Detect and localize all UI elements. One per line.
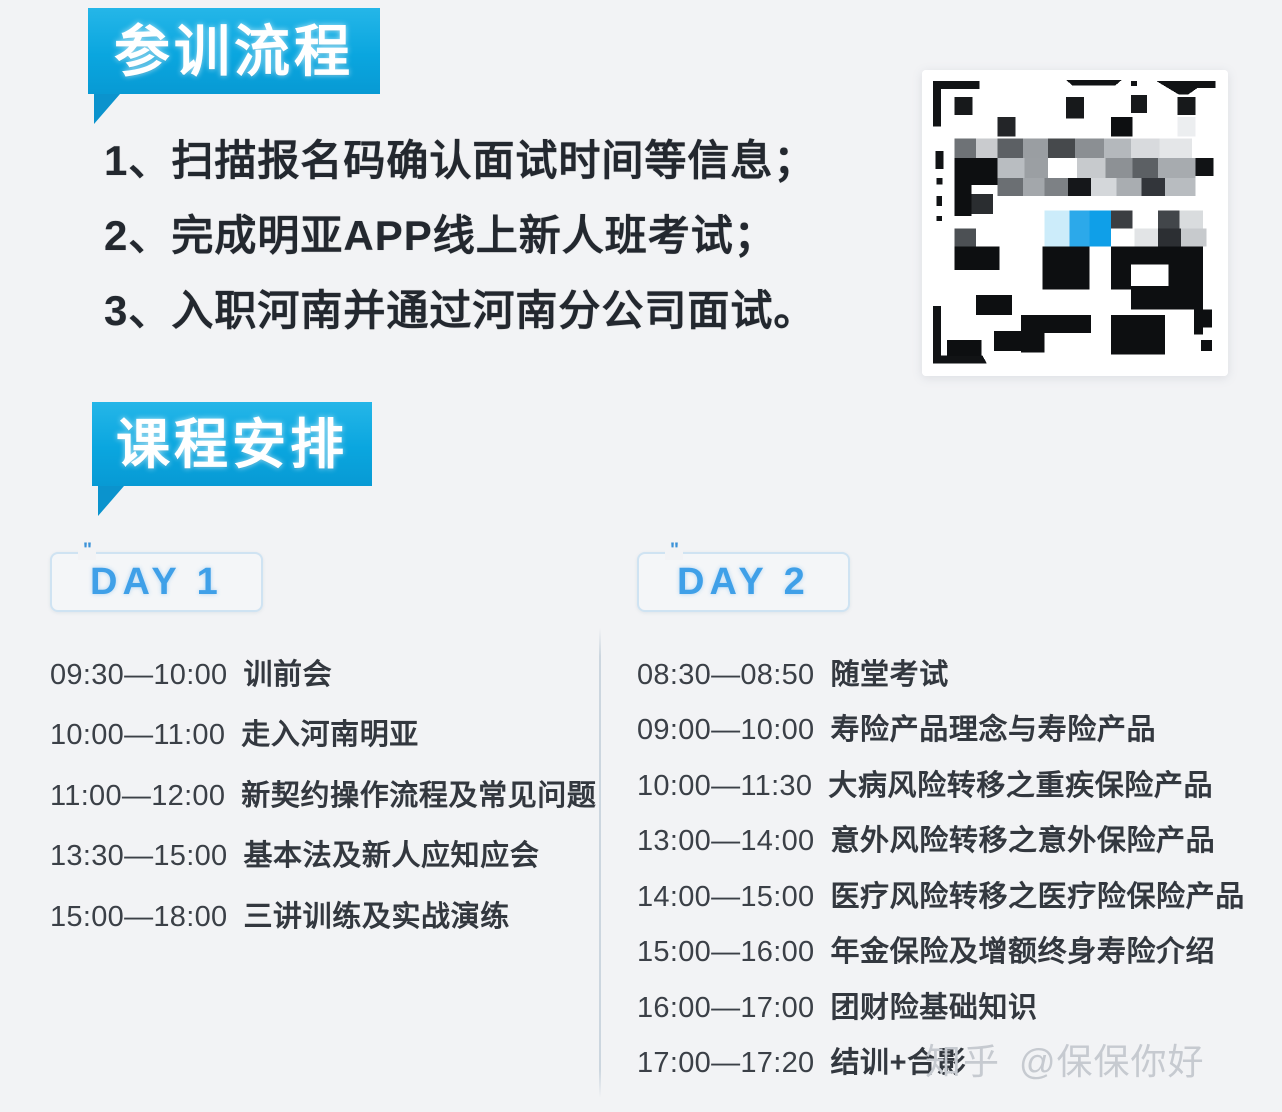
process-step-text: 完成明亚APP线上新人班考试； (171, 215, 776, 257)
quote-mark-icon: " (78, 541, 96, 560)
section-banner-schedule-label: 课程安排 (92, 402, 372, 486)
schedule-time: 08:30—08:50 (637, 660, 814, 690)
schedule-title: 医疗风险转移之医疗险保险产品 (830, 882, 1244, 912)
poster-canvas: 参训流程 1、扫描报名码确认面试时间等信息； 2、完成明亚APP线上新人班考试；… (0, 0, 1282, 1112)
schedule-row: 13:30—15:00 基本法及新人应知应会 (50, 841, 595, 871)
process-step-number: 2、 (104, 215, 171, 257)
schedule-title: 团财险基础知识 (830, 993, 1037, 1023)
process-step-text: 入职河南并通过河南分公司面试。 (171, 290, 816, 332)
schedule-title: 新契约操作流程及常见问题 (241, 781, 596, 811)
schedule-time: 16:00—17:00 (637, 993, 814, 1023)
schedule-title: 走入河南明亚 (241, 720, 419, 750)
schedule-row: 14:00—15:00 医疗风险转移之医疗险保险产品 (637, 882, 1267, 912)
schedule-time: 15:00—18:00 (50, 902, 227, 932)
schedule-row: 09:00—10:00 寿险产品理念与寿险产品 (637, 715, 1267, 745)
registration-qr-code[interactable] (922, 70, 1228, 376)
section-banner-schedule: 课程安排 (92, 402, 372, 516)
list-item: 3、入职河南并通过河南分公司面试。 (104, 290, 914, 332)
day-1-column: " DAY 1 09:30—10:00 训前会 10:00—11:00 走入河南… (50, 552, 595, 962)
process-step-text: 扫描报名码确认面试时间等信息； (171, 140, 816, 182)
schedule-title: 大病风险转移之重疾保险产品 (828, 771, 1213, 801)
schedule-row: 10:00—11:30 大病风险转移之重疾保险产品 (637, 771, 1267, 801)
schedule-title: 三讲训练及实战演练 (243, 902, 509, 932)
schedule-time: 13:00—14:00 (637, 826, 814, 856)
section-banner-process: 参训流程 (88, 8, 380, 124)
day-1-badge: " DAY 1 (50, 552, 263, 612)
schedule-time: 10:00—11:00 (50, 720, 225, 750)
schedule-row: 15:00—16:00 年金保险及增额终身寿险介绍 (637, 937, 1267, 967)
schedule-row: 09:30—10:00 训前会 (50, 660, 595, 690)
qr-code-icon (922, 70, 1228, 376)
process-step-number: 1、 (104, 140, 171, 182)
process-step-number: 3、 (104, 290, 171, 332)
section-banner-process-label: 参训流程 (88, 8, 380, 94)
schedule-time: 13:30—15:00 (50, 841, 227, 871)
schedule-title: 随堂考试 (830, 660, 948, 690)
schedule-row: 10:00—11:00 走入河南明亚 (50, 720, 595, 750)
watermark-handle: @保保你好 (1019, 1033, 1205, 1085)
list-item: 1、扫描报名码确认面试时间等信息； (104, 140, 914, 182)
banner-tail-icon (98, 486, 124, 516)
schedule-title: 意外风险转移之意外保险产品 (830, 826, 1215, 856)
schedule-row: 13:00—14:00 意外风险转移之意外保险产品 (637, 826, 1267, 856)
schedule-title: 寿险产品理念与寿险产品 (830, 715, 1156, 745)
schedule-row: 16:00—17:00 团财险基础知识 (637, 993, 1267, 1023)
schedule-time: 10:00—11:30 (637, 771, 812, 801)
banner-tail-icon (94, 94, 120, 124)
day-1-label: DAY 1 (90, 561, 223, 603)
schedule-time: 11:00—12:00 (50, 781, 225, 811)
list-item: 2、完成明亚APP线上新人班考试； (104, 215, 914, 257)
schedule-title: 训前会 (243, 660, 332, 690)
zhihu-watermark: 知乎 @保保你好 (925, 1033, 1205, 1085)
quote-mark-icon: " (665, 541, 683, 560)
schedule-time: 09:00—10:00 (637, 715, 814, 745)
watermark-platform: 知乎 (925, 1033, 1001, 1085)
schedule-title: 年金保险及增额终身寿险介绍 (830, 937, 1215, 967)
day-2-schedule-list: 08:30—08:50 随堂考试 09:00—10:00 寿险产品理念与寿险产品… (637, 660, 1267, 1079)
schedule-row: 11:00—12:00 新契约操作流程及常见问题 (50, 781, 595, 811)
schedule-row: 15:00—18:00 三讲训练及实战演练 (50, 902, 595, 932)
day-2-label: DAY 2 (677, 561, 810, 603)
day-2-badge: " DAY 2 (637, 552, 850, 612)
schedule-time: 17:00—17:20 (637, 1048, 814, 1078)
schedule-time: 15:00—16:00 (637, 937, 814, 967)
day-2-column: " DAY 2 08:30—08:50 随堂考试 09:00—10:00 寿险产… (637, 552, 1267, 1104)
process-steps-list: 1、扫描报名码确认面试时间等信息； 2、完成明亚APP线上新人班考试； 3、入职… (104, 140, 914, 365)
schedule-time: 14:00—15:00 (637, 882, 814, 912)
schedule-title: 基本法及新人应知应会 (243, 841, 539, 871)
schedule-row: 08:30—08:50 随堂考试 (637, 660, 1267, 690)
column-divider (599, 628, 601, 1098)
schedule-time: 09:30—10:00 (50, 660, 227, 690)
day-1-schedule-list: 09:30—10:00 训前会 10:00—11:00 走入河南明亚 11:00… (50, 660, 595, 932)
